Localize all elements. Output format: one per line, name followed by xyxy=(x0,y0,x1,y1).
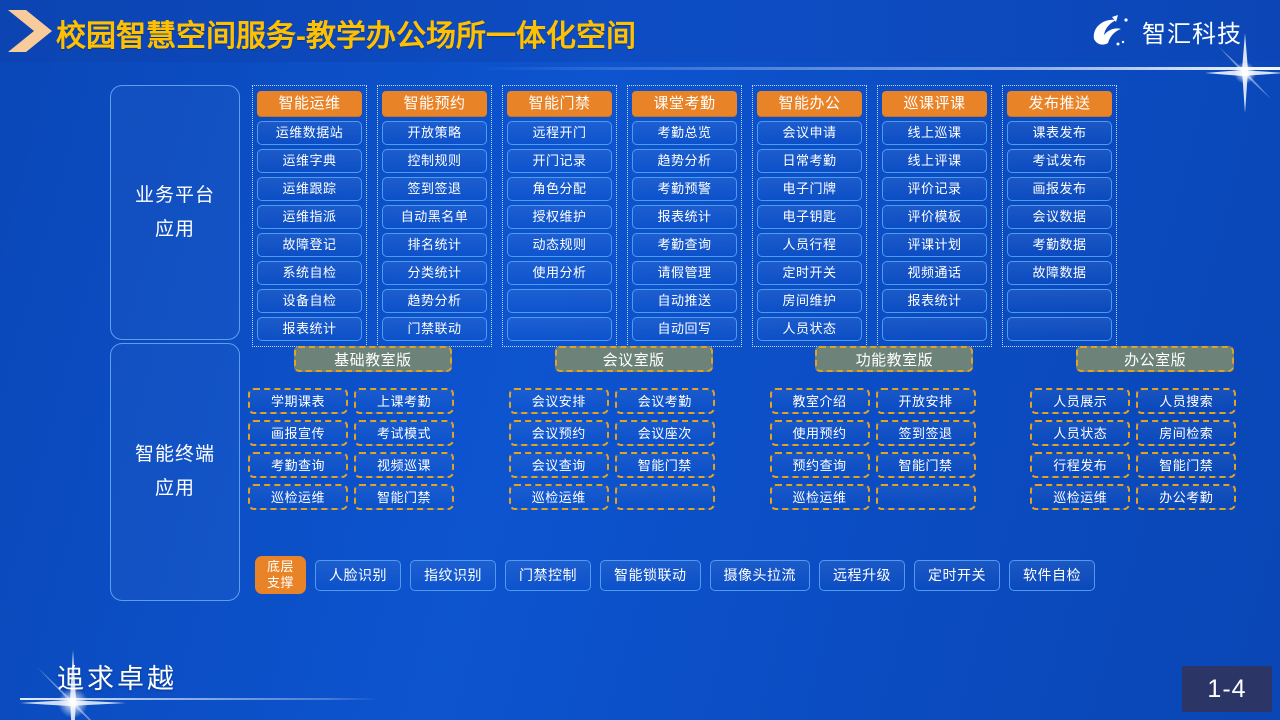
platform-item[interactable]: 运维数据站 xyxy=(257,121,362,145)
terminal-item[interactable]: 房间检索 xyxy=(1136,420,1236,446)
brand-logo: 智汇科技 xyxy=(1088,13,1242,49)
page-title: 校园智慧空间服务-教学办公场所一体化空间 xyxy=(56,11,636,55)
footer-divider xyxy=(20,698,380,700)
platform-item[interactable]: 故障数据 xyxy=(1007,261,1112,285)
header-divider xyxy=(470,67,1280,70)
brand-name: 智汇科技 xyxy=(1142,14,1242,49)
platform-item[interactable]: 电子门牌 xyxy=(757,177,862,201)
terminal-group: 基础教室版 学期课表 上课考勤 画报宣传 考试模式 考勤查询 视频巡课 巡检运维… xyxy=(248,346,498,510)
platform-column: 智能运维 运维数据站 运维字典 运维跟踪 运维指派 故障登记 系统自检 设备自检… xyxy=(252,85,367,347)
sidebar-item-business-platform[interactable]: 业务平台 应用 xyxy=(110,85,240,340)
platform-item[interactable]: 请假管理 xyxy=(632,261,737,285)
platform-item[interactable]: 人员状态 xyxy=(757,317,862,341)
terminal-item-empty[interactable] xyxy=(615,484,715,510)
platform-item[interactable]: 考勤查询 xyxy=(632,233,737,257)
platform-item[interactable]: 报表统计 xyxy=(257,317,362,341)
platform-item-empty[interactable] xyxy=(1007,289,1112,313)
support-item[interactable]: 远程升级 xyxy=(819,560,905,591)
foundation-support-row: 底层 支撑 人脸识别 指纹识别 门禁控制 智能锁联动 摄像头拉流 远程升级 定时… xyxy=(255,556,1095,594)
platform-column: 智能预约 开放策略 控制规则 签到签退 自动黑名单 排名统计 分类统计 趋势分析… xyxy=(377,85,492,347)
sidebar-item-label-line1: 智能终端 xyxy=(135,438,215,472)
platform-item[interactable]: 远程开门 xyxy=(507,121,612,145)
platform-item[interactable]: 授权维护 xyxy=(507,205,612,229)
platform-column-title[interactable]: 智能运维 xyxy=(257,91,362,117)
terminal-group: 办公室版 人员展示 人员搜索 人员状态 房间检索 行程发布 智能门禁 巡检运维 … xyxy=(1030,346,1280,510)
platform-item[interactable]: 运维跟踪 xyxy=(257,177,362,201)
terminal-item[interactable]: 智能门禁 xyxy=(1136,452,1236,478)
platform-item[interactable]: 排名统计 xyxy=(382,233,487,257)
platform-item-empty[interactable] xyxy=(1007,317,1112,341)
platform-item[interactable]: 开放策略 xyxy=(382,121,487,145)
platform-item[interactable]: 报表统计 xyxy=(632,205,737,229)
platform-item[interactable]: 评价记录 xyxy=(882,177,987,201)
terminal-item[interactable]: 预约查询 xyxy=(770,452,870,478)
terminal-item[interactable]: 会议预约 xyxy=(509,420,609,446)
platform-item[interactable]: 趋势分析 xyxy=(382,289,487,313)
platform-item-empty[interactable] xyxy=(507,317,612,341)
terminal-item[interactable]: 巡检运维 xyxy=(1030,484,1130,510)
company-mark-icon xyxy=(1088,13,1134,49)
terminal-group: 功能教室版 教室介绍 开放安排 使用预约 签到签退 预约查询 智能门禁 巡检运维 xyxy=(770,346,1020,510)
platform-column: 智能门禁 远程开门 开门记录 角色分配 授权维护 动态规则 使用分析 xyxy=(502,85,617,347)
terminal-item[interactable]: 智能门禁 xyxy=(876,452,976,478)
terminal-item[interactable]: 使用预约 xyxy=(770,420,870,446)
platform-item[interactable]: 动态规则 xyxy=(507,233,612,257)
platform-item[interactable]: 考勤总览 xyxy=(632,121,737,145)
platform-item[interactable]: 故障登记 xyxy=(257,233,362,257)
terminal-item[interactable]: 行程发布 xyxy=(1030,452,1130,478)
terminal-group-title[interactable]: 功能教室版 xyxy=(815,346,973,372)
terminal-item[interactable]: 巡检运维 xyxy=(509,484,609,510)
platform-item[interactable]: 签到签退 xyxy=(382,177,487,201)
platform-item[interactable]: 人员行程 xyxy=(757,233,862,257)
terminal-item[interactable]: 人员状态 xyxy=(1030,420,1130,446)
platform-item[interactable]: 使用分析 xyxy=(507,261,612,285)
terminal-group-title[interactable]: 会议室版 xyxy=(555,346,713,372)
terminal-item[interactable]: 会议安排 xyxy=(509,388,609,414)
platform-column-title[interactable]: 课堂考勤 xyxy=(632,91,737,117)
platform-column-title[interactable]: 巡课评课 xyxy=(882,91,987,117)
platform-item[interactable]: 会议数据 xyxy=(1007,205,1112,229)
platform-item[interactable]: 运维指派 xyxy=(257,205,362,229)
terminal-group-title[interactable]: 办公室版 xyxy=(1076,346,1234,372)
sidebar-item-label-line1: 业务平台 xyxy=(135,179,215,213)
terminal-item[interactable]: 学期课表 xyxy=(248,388,348,414)
platform-item[interactable]: 报表统计 xyxy=(882,289,987,313)
terminal-item[interactable]: 视频巡课 xyxy=(354,452,454,478)
terminal-item[interactable]: 会议查询 xyxy=(509,452,609,478)
platform-column-title[interactable]: 智能门禁 xyxy=(507,91,612,117)
terminal-item[interactable]: 人员展示 xyxy=(1030,388,1130,414)
terminal-item[interactable]: 会议考勤 xyxy=(615,388,715,414)
platform-item[interactable]: 定时开关 xyxy=(757,261,862,285)
page-indicator: 1-4 xyxy=(1182,666,1272,712)
platform-item-empty[interactable] xyxy=(507,289,612,313)
chevron-right-icon xyxy=(4,8,60,54)
terminal-group-title[interactable]: 基础教室版 xyxy=(294,346,452,372)
platform-item-empty[interactable] xyxy=(882,317,987,341)
sidebar-item-smart-terminal[interactable]: 智能终端 应用 xyxy=(110,343,240,601)
platform-item[interactable]: 趋势分析 xyxy=(632,149,737,173)
platform-item[interactable]: 画报发布 xyxy=(1007,177,1112,201)
business-platform-columns: 智能运维 运维数据站 运维字典 运维跟踪 运维指派 故障登记 系统自检 设备自检… xyxy=(252,85,1117,347)
platform-item[interactable]: 设备自检 xyxy=(257,289,362,313)
header-bar: 校园智慧空间服务-教学办公场所一体化空间 智汇科技 xyxy=(0,0,1280,62)
support-item[interactable]: 人脸识别 xyxy=(315,560,401,591)
terminal-item[interactable]: 画报宣传 xyxy=(248,420,348,446)
platform-item[interactable]: 考试发布 xyxy=(1007,149,1112,173)
platform-item[interactable]: 考勤数据 xyxy=(1007,233,1112,257)
terminal-group: 会议室版 会议安排 会议考勤 会议预约 会议座次 会议查询 智能门禁 巡检运维 xyxy=(509,346,759,510)
terminal-item[interactable]: 会议座次 xyxy=(615,420,715,446)
platform-item[interactable]: 系统自检 xyxy=(257,261,362,285)
support-item[interactable]: 门禁控制 xyxy=(505,560,591,591)
terminal-item[interactable]: 开放安排 xyxy=(876,388,976,414)
platform-item[interactable]: 控制规则 xyxy=(382,149,487,173)
terminal-item[interactable]: 签到签退 xyxy=(876,420,976,446)
support-item[interactable]: 智能锁联动 xyxy=(600,560,701,591)
platform-column: 巡课评课 线上巡课 线上评课 评价记录 评价模板 评课计划 视频通话 报表统计 xyxy=(877,85,992,347)
platform-item[interactable]: 房间维护 xyxy=(757,289,862,313)
platform-column-title[interactable]: 智能预约 xyxy=(382,91,487,117)
terminal-item[interactable]: 巡检运维 xyxy=(770,484,870,510)
terminal-item[interactable]: 巡检运维 xyxy=(248,484,348,510)
platform-column-title[interactable]: 发布推送 xyxy=(1007,91,1112,117)
platform-item[interactable]: 评价模板 xyxy=(882,205,987,229)
terminal-item[interactable]: 考勤查询 xyxy=(248,452,348,478)
terminal-item[interactable]: 教室介绍 xyxy=(770,388,870,414)
platform-item[interactable]: 课表发布 xyxy=(1007,121,1112,145)
foundation-support-label-line2: 支撑 xyxy=(267,575,294,591)
terminal-item[interactable]: 智能门禁 xyxy=(615,452,715,478)
terminal-item[interactable]: 人员搜索 xyxy=(1136,388,1236,414)
footer-slogan: 追求卓越 xyxy=(57,657,177,696)
platform-item[interactable]: 开门记录 xyxy=(507,149,612,173)
platform-item[interactable]: 角色分配 xyxy=(507,177,612,201)
support-item[interactable]: 定时开关 xyxy=(914,560,1000,591)
terminal-item-empty[interactable] xyxy=(876,484,976,510)
platform-item[interactable]: 线上评课 xyxy=(882,149,987,173)
sidebar-item-label-line2: 应用 xyxy=(155,472,195,506)
terminal-item[interactable]: 上课考勤 xyxy=(354,388,454,414)
terminal-item[interactable]: 办公考勤 xyxy=(1136,484,1236,510)
platform-column: 课堂考勤 考勤总览 趋势分析 考勤预警 报表统计 考勤查询 请假管理 自动推送 … xyxy=(627,85,742,347)
terminal-item[interactable]: 智能门禁 xyxy=(354,484,454,510)
platform-item[interactable]: 自动推送 xyxy=(632,289,737,313)
platform-item[interactable]: 会议申请 xyxy=(757,121,862,145)
platform-item[interactable]: 电子钥匙 xyxy=(757,205,862,229)
platform-item[interactable]: 线上巡课 xyxy=(882,121,987,145)
platform-column: 智能办公 会议申请 日常考勤 电子门牌 电子钥匙 人员行程 定时开关 房间维护 … xyxy=(752,85,867,347)
platform-column: 发布推送 课表发布 考试发布 画报发布 会议数据 考勤数据 故障数据 xyxy=(1002,85,1117,347)
foundation-support-label-line1: 底层 xyxy=(267,559,294,575)
platform-item[interactable]: 运维字典 xyxy=(257,149,362,173)
support-item[interactable]: 指纹识别 xyxy=(410,560,496,591)
platform-item[interactable]: 自动黑名单 xyxy=(382,205,487,229)
platform-column-title[interactable]: 智能办公 xyxy=(757,91,862,117)
foundation-support-label[interactable]: 底层 支撑 xyxy=(255,556,306,594)
sidebar-item-label-line2: 应用 xyxy=(155,213,195,247)
platform-item[interactable]: 日常考勤 xyxy=(757,149,862,173)
platform-item[interactable]: 分类统计 xyxy=(382,261,487,285)
platform-item[interactable]: 视频通话 xyxy=(882,261,987,285)
platform-item[interactable]: 门禁联动 xyxy=(382,317,487,341)
support-item[interactable]: 软件自检 xyxy=(1009,560,1095,591)
platform-item[interactable]: 考勤预警 xyxy=(632,177,737,201)
support-item[interactable]: 摄像头拉流 xyxy=(710,560,811,591)
terminal-item[interactable]: 考试模式 xyxy=(354,420,454,446)
platform-item[interactable]: 自动回写 xyxy=(632,317,737,341)
platform-item[interactable]: 评课计划 xyxy=(882,233,987,257)
smart-terminal-groups: 基础教室版 学期课表 上课考勤 画报宣传 考试模式 考勤查询 视频巡课 巡检运维… xyxy=(248,346,1280,510)
